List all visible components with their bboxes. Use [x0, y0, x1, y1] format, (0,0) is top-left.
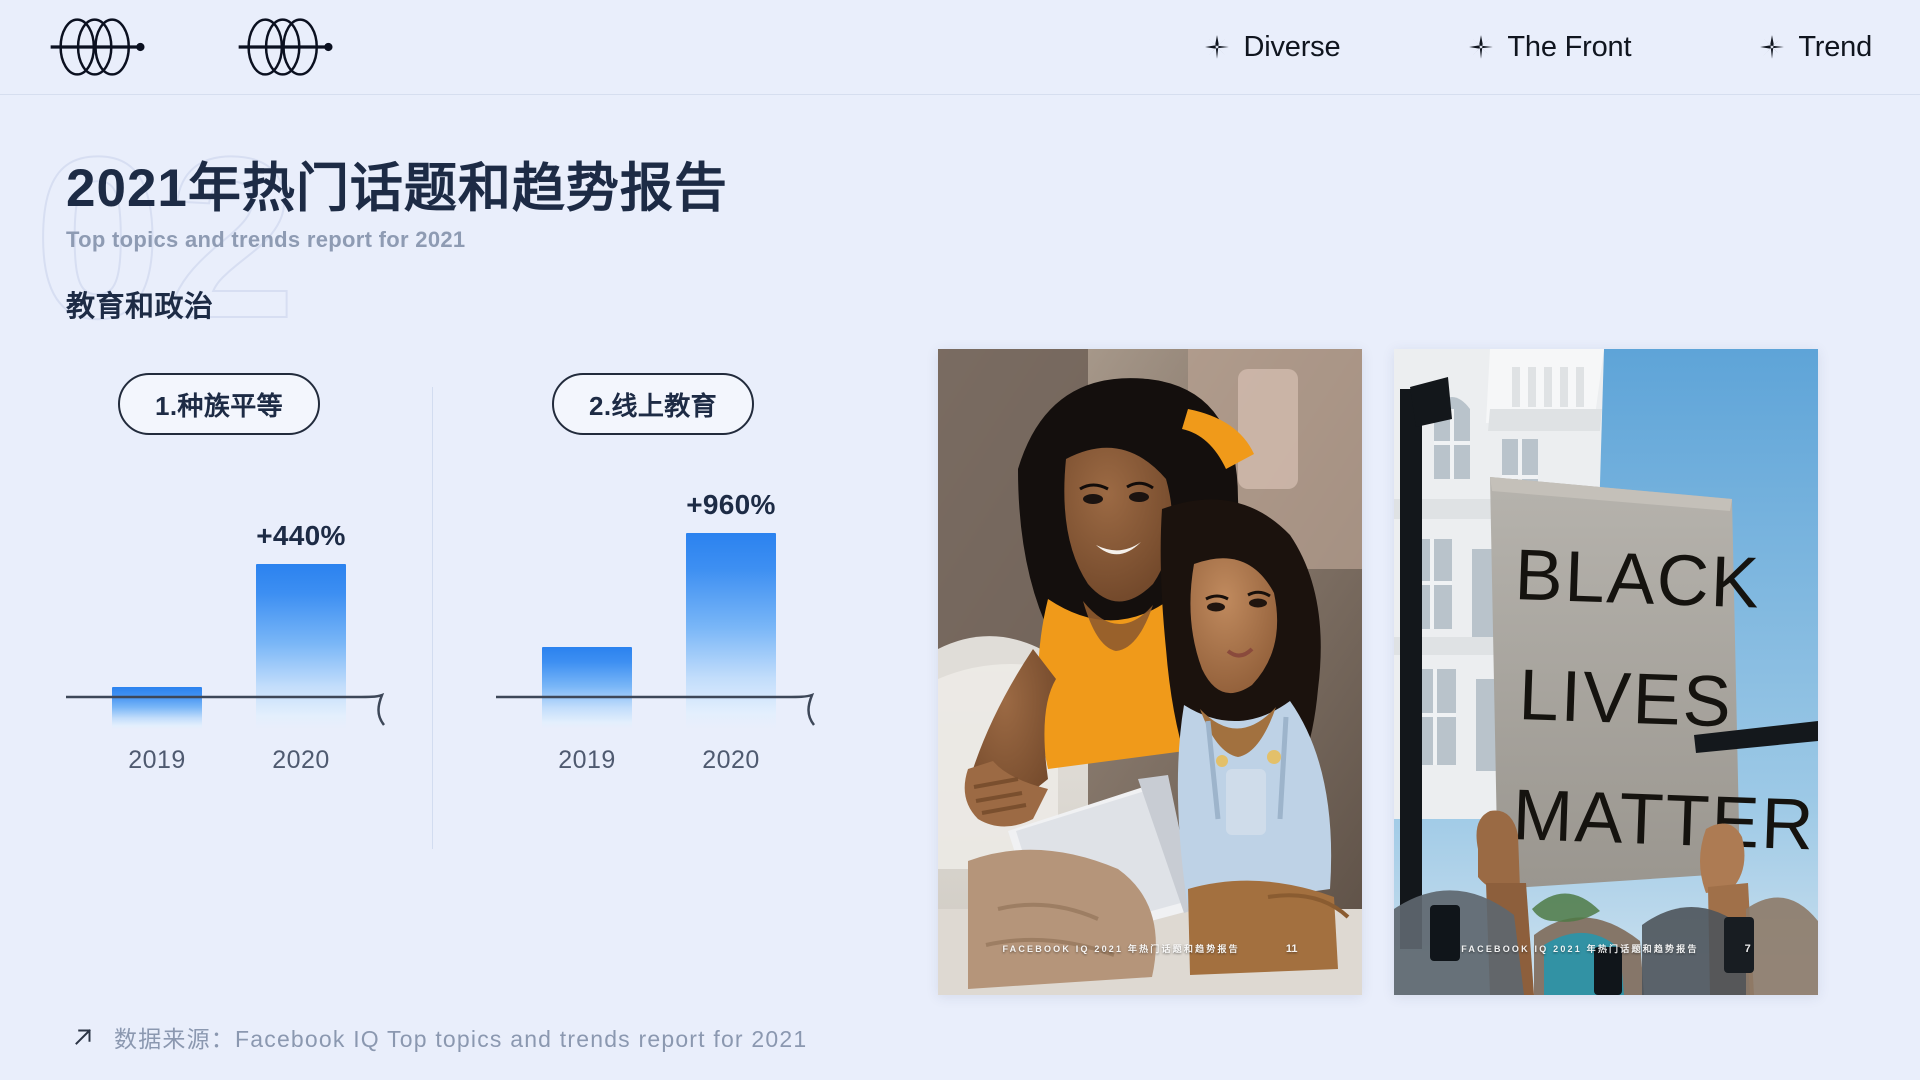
chart-plot-area: +440% 2019 2020	[64, 465, 444, 775]
nav-item-diverse[interactable]: Diverse	[1204, 31, 1340, 64]
tick-label-2020: 2020	[686, 746, 776, 775]
tick-label-2019: 2019	[112, 746, 202, 775]
chart-online-education: 2.线上教育 +960%	[494, 373, 874, 775]
source-note: 数据来源：Facebook IQ Top topics and trends r…	[70, 1020, 807, 1054]
nav-item-the-front[interactable]: The Front	[1468, 31, 1631, 64]
sparkle-icon	[1468, 34, 1494, 60]
chart-tick-labels: 2019 2020	[112, 746, 392, 775]
tick-label-2020: 2020	[256, 746, 346, 775]
photo-black-lives-matter-protest[interactable]: BLACK LIVES MATTER	[1394, 349, 1818, 995]
slide-body: 02 2021年热门话题和趋势报告 Top topics and trends …	[0, 95, 1920, 1080]
left-content-pane: 2021年热门话题和趋势报告 Top topics and trends rep…	[0, 95, 920, 775]
photo-gallery: FACEBOOK IQ 2021 年热门话题和趋势报告 11	[938, 349, 1818, 995]
section-heading: 教育和政治	[66, 283, 920, 325]
chart-tick-labels: 2019 2020	[542, 746, 822, 775]
chart-racial-equality: 1.种族平等 +440%	[64, 373, 444, 775]
bar-value-label: +440%	[256, 520, 345, 552]
chart-plot-area: +960% 2019 2020	[494, 465, 874, 775]
main-navigation: Diverse The Front Trend	[1076, 31, 1920, 64]
sparkle-icon	[1759, 34, 1785, 60]
chart-axis	[64, 693, 394, 733]
tick-label-2019: 2019	[542, 746, 632, 775]
bar-value-label: +960%	[686, 489, 775, 521]
nav-item-trend[interactable]: Trend	[1759, 31, 1872, 64]
sparkle-icon	[1204, 34, 1230, 60]
nav-item-label: The Front	[1507, 31, 1631, 64]
charts-container: 1.种族平等 +440%	[0, 373, 920, 775]
source-text: 数据来源：Facebook IQ Top topics and trends r…	[114, 1020, 807, 1054]
chart-title-pill[interactable]: 2.线上教育	[552, 373, 754, 435]
title-block: 2021年热门话题和趋势报告 Top topics and trends rep…	[0, 95, 920, 325]
page-subtitle: Top topics and trends report for 2021	[66, 227, 920, 253]
nav-item-label: Trend	[1798, 31, 1872, 64]
arrow-up-right-icon	[70, 1024, 96, 1050]
logo-group	[0, 16, 340, 78]
chart-axis	[494, 693, 824, 733]
sign-line-1: BLACK	[1513, 535, 1762, 624]
coil-icon[interactable]	[232, 16, 340, 78]
sign-line-2: LIVES	[1517, 655, 1734, 742]
sign-line-3: MATTER	[1511, 775, 1816, 866]
top-header-bar: Diverse The Front Trend	[0, 0, 1920, 95]
photo-mother-daughter-tablet[interactable]: FACEBOOK IQ 2021 年热门话题和趋势报告 11	[938, 349, 1362, 995]
page-title: 2021年热门话题和趋势报告	[66, 159, 920, 218]
coil-icon[interactable]	[44, 16, 152, 78]
nav-item-label: Diverse	[1243, 31, 1340, 64]
chart-title-pill[interactable]: 1.种族平等	[118, 373, 320, 435]
